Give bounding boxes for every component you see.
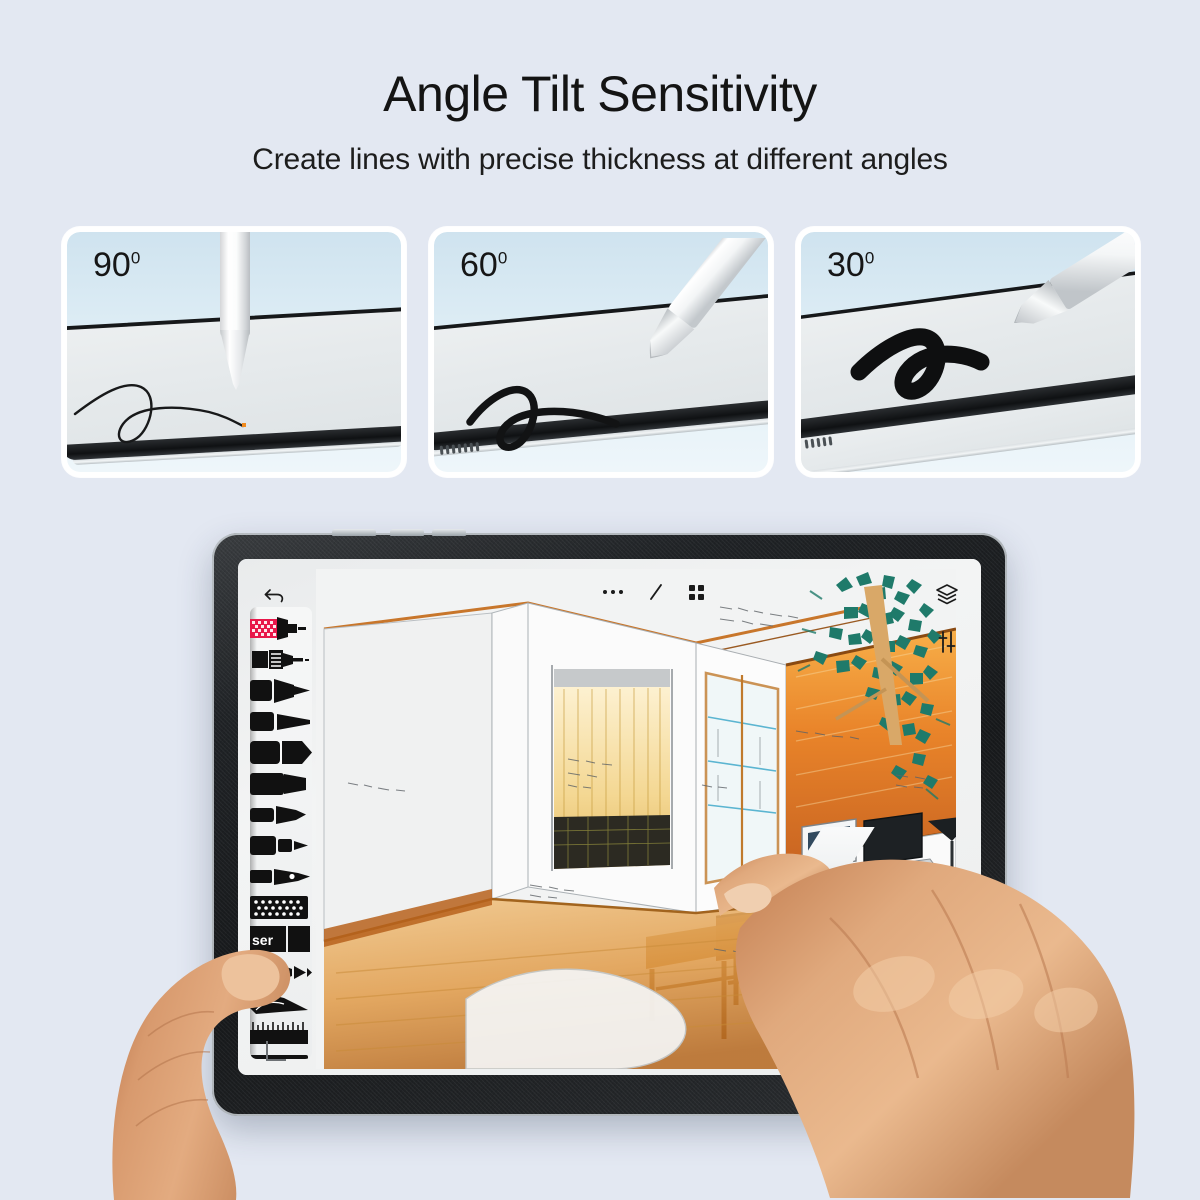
- brush-tool-wide-marker[interactable]: [250, 737, 312, 768]
- page-header: Angle Tilt Sensitivity Create lines with…: [0, 0, 1200, 177]
- angle-label-90: 900: [93, 246, 140, 285]
- brush-tool-technical-pen[interactable]: [250, 644, 312, 675]
- degree-symbol-60: 0: [498, 249, 507, 268]
- volume-up-button[interactable]: [390, 529, 424, 536]
- stylus-60: [594, 238, 768, 428]
- page-title: Angle Tilt Sensitivity: [0, 68, 1200, 121]
- brush-tool-chisel-tip[interactable]: [250, 706, 312, 737]
- angle-card-30-inner: 300: [801, 232, 1135, 472]
- line-tool-icon[interactable]: [647, 583, 665, 601]
- tablet-scene: ser: [0, 500, 1200, 1200]
- layers-icon[interactable]: [935, 583, 959, 605]
- volume-down-button[interactable]: [432, 529, 466, 536]
- more-options-icon[interactable]: [603, 590, 623, 594]
- angle-cards-row: 900: [62, 227, 1140, 477]
- page-subtitle: Create lines with precise thickness at d…: [0, 143, 1200, 177]
- angle-value-60: 60: [460, 246, 498, 284]
- right-hand: [680, 778, 1150, 1198]
- stylus-30: [951, 232, 1135, 408]
- undo-icon[interactable]: [264, 585, 286, 605]
- angle-card-90[interactable]: 900: [62, 227, 406, 477]
- angle-label-60: 600: [460, 246, 507, 285]
- angle-label-30: 300: [827, 246, 874, 285]
- angle-card-30[interactable]: 300: [796, 227, 1140, 477]
- degree-symbol-30: 0: [865, 249, 874, 268]
- angle-card-60-inner: 600: [434, 232, 768, 472]
- adjustments-icon[interactable]: [937, 631, 957, 653]
- angle-card-90-inner: 900: [67, 232, 401, 472]
- angle-card-60[interactable]: 600: [429, 227, 773, 477]
- angle-value-30: 30: [827, 246, 865, 284]
- top-toolbar: [603, 583, 704, 601]
- angle-value-90: 90: [93, 246, 131, 284]
- stylus-90: [217, 232, 263, 396]
- brush-tool-brush-pen[interactable]: [250, 675, 312, 706]
- degree-symbol-90: 0: [131, 249, 140, 268]
- grid-tool-icon[interactable]: [689, 585, 704, 600]
- power-button[interactable]: [332, 529, 376, 536]
- left-hand: [108, 800, 408, 1200]
- brush-tool-marker-selected[interactable]: [250, 613, 312, 644]
- brush-tool-flat-marker[interactable]: [250, 768, 312, 799]
- right-toolbar: [935, 583, 959, 653]
